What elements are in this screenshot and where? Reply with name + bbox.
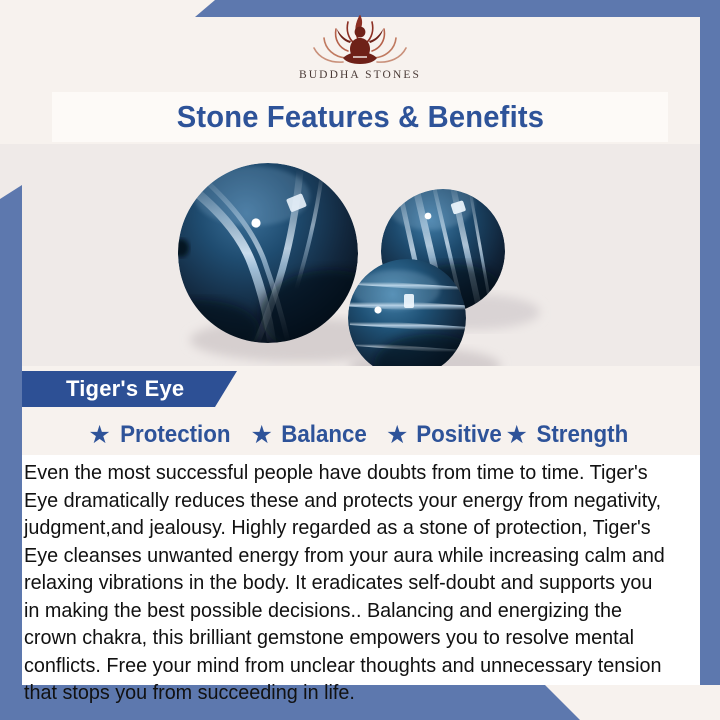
- product-info-card: BUDDHA STONES Stone Features & Benefits: [0, 0, 720, 720]
- star-icon: ★: [88, 423, 110, 448]
- star-icon: ★: [505, 423, 527, 448]
- brand-name: BUDDHA STONES: [299, 69, 421, 81]
- benefit-item-strength: ★ Strength: [505, 421, 631, 449]
- benefit-label: Positive: [417, 421, 503, 449]
- benefit-label: Protection: [120, 421, 230, 449]
- benefit-item-protection: ★ Protection: [88, 421, 234, 449]
- stone-photo-illustration: [0, 144, 720, 366]
- benefits-row: ★ Protection ★ Balance ★ Positive ★ Stre…: [22, 418, 698, 452]
- benefit-item-positive: ★ Positive: [386, 421, 505, 449]
- description-panel: Even the most successful people have dou…: [22, 455, 700, 685]
- star-icon: ★: [251, 423, 273, 448]
- star-icon: ★: [386, 423, 408, 448]
- stone-photo: [0, 144, 720, 366]
- stone-name-label: Tiger's Eye: [22, 376, 184, 402]
- frame-right-bar: [700, 17, 720, 685]
- page-title: Stone Features & Benefits: [176, 99, 543, 135]
- benefit-label: Strength: [536, 421, 628, 449]
- title-band: Stone Features & Benefits: [52, 92, 668, 142]
- brand-logo: BUDDHA STONES: [0, 12, 720, 92]
- benefit-item-balance: ★ Balance: [251, 421, 370, 449]
- benefit-label: Balance: [281, 421, 367, 449]
- stone-name-banner: Tiger's Eye: [22, 371, 237, 407]
- frame-left-bar: [0, 185, 22, 685]
- description-text: Even the most successful people have dou…: [24, 460, 671, 708]
- lotus-meditation-icon: [301, 12, 419, 68]
